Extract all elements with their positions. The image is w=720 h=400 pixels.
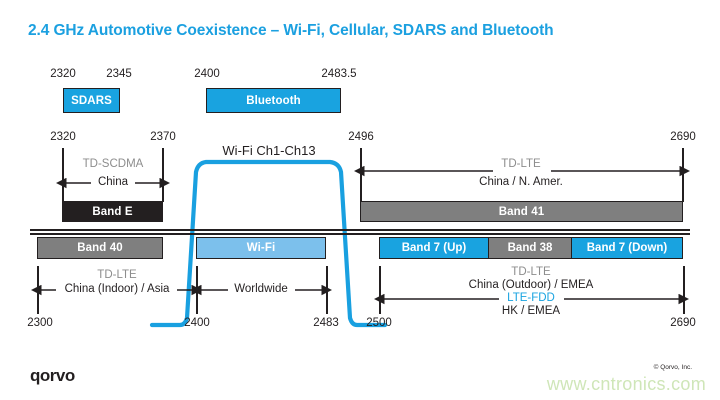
left-region-label: China (Indoor) / Asia [65, 283, 170, 295]
tick-2483 [326, 266, 328, 314]
band-e-end-tick [162, 148, 164, 202]
qorvo-logo: qorvo [30, 366, 75, 386]
axis-label-2483: 2483 [313, 317, 339, 329]
band-e-technology-label: TD-SCDMA [83, 158, 144, 170]
right-region2-label: HK / EMEA [502, 305, 560, 317]
axis-rule-upper [30, 229, 690, 231]
axis-label-2400: 2400 [184, 317, 210, 329]
sdars-band[interactable]: SDARS [63, 88, 120, 113]
band-41-end-label: 2690 [670, 131, 696, 143]
band-e-start-tick [62, 148, 64, 202]
band-7-down-block[interactable]: Band 7 (Down) [571, 238, 682, 258]
band-e-start-label: 2320 [50, 131, 76, 143]
sdars-start-label: 2320 [50, 68, 76, 80]
right-technology2-label: LTE-FDD [507, 292, 555, 304]
slide-canvas: 2.4 GHz Automotive Coexistence – Wi-Fi, … [0, 0, 720, 400]
band-e-end-label: 2370 [150, 131, 176, 143]
band-40-block[interactable]: Band 40 [37, 237, 163, 259]
middle-region-label: Worldwide [234, 283, 287, 295]
copyright-text: © Qorvo, Inc. [654, 364, 692, 371]
axis-label-2690: 2690 [670, 317, 696, 329]
band-7-up-block[interactable]: Band 7 (Up) [380, 238, 488, 258]
wifi-curve-label: Wi-Fi Ch1-Ch13 [222, 143, 315, 158]
watermark-text: www.cntronics.com [547, 374, 706, 395]
band-41-block[interactable]: Band 41 [360, 201, 683, 222]
left-technology-label: TD-LTE [97, 269, 136, 281]
band-e-region-label: China [98, 176, 128, 188]
tick-2500 [379, 266, 381, 314]
bluetooth-end-label: 2483.5 [321, 68, 356, 80]
wifi-block[interactable]: Wi-Fi [196, 237, 326, 259]
bluetooth-start-label: 2400 [194, 68, 220, 80]
band-e-block[interactable]: Band E [62, 201, 163, 222]
right-technology-label: TD-LTE [511, 266, 550, 278]
band-41-start-label: 2496 [348, 131, 374, 143]
bluetooth-band[interactable]: Bluetooth [206, 88, 341, 113]
band-41-region-label: China / N. Amer. [479, 176, 563, 188]
band-38-block[interactable]: Band 38 [488, 238, 571, 258]
axis-label-2300: 2300 [27, 317, 53, 329]
axis-label-2500: 2500 [366, 317, 392, 329]
sdars-end-label: 2345 [106, 68, 132, 80]
tick-2690 [683, 266, 685, 314]
axis-rule-lower [30, 233, 690, 235]
page-title: 2.4 GHz Automotive Coexistence – Wi-Fi, … [28, 22, 554, 40]
lte-band-group: Band 7 (Up) Band 38 Band 7 (Down) [379, 237, 683, 259]
right-region-label: China (Outdoor) / EMEA [469, 279, 594, 291]
